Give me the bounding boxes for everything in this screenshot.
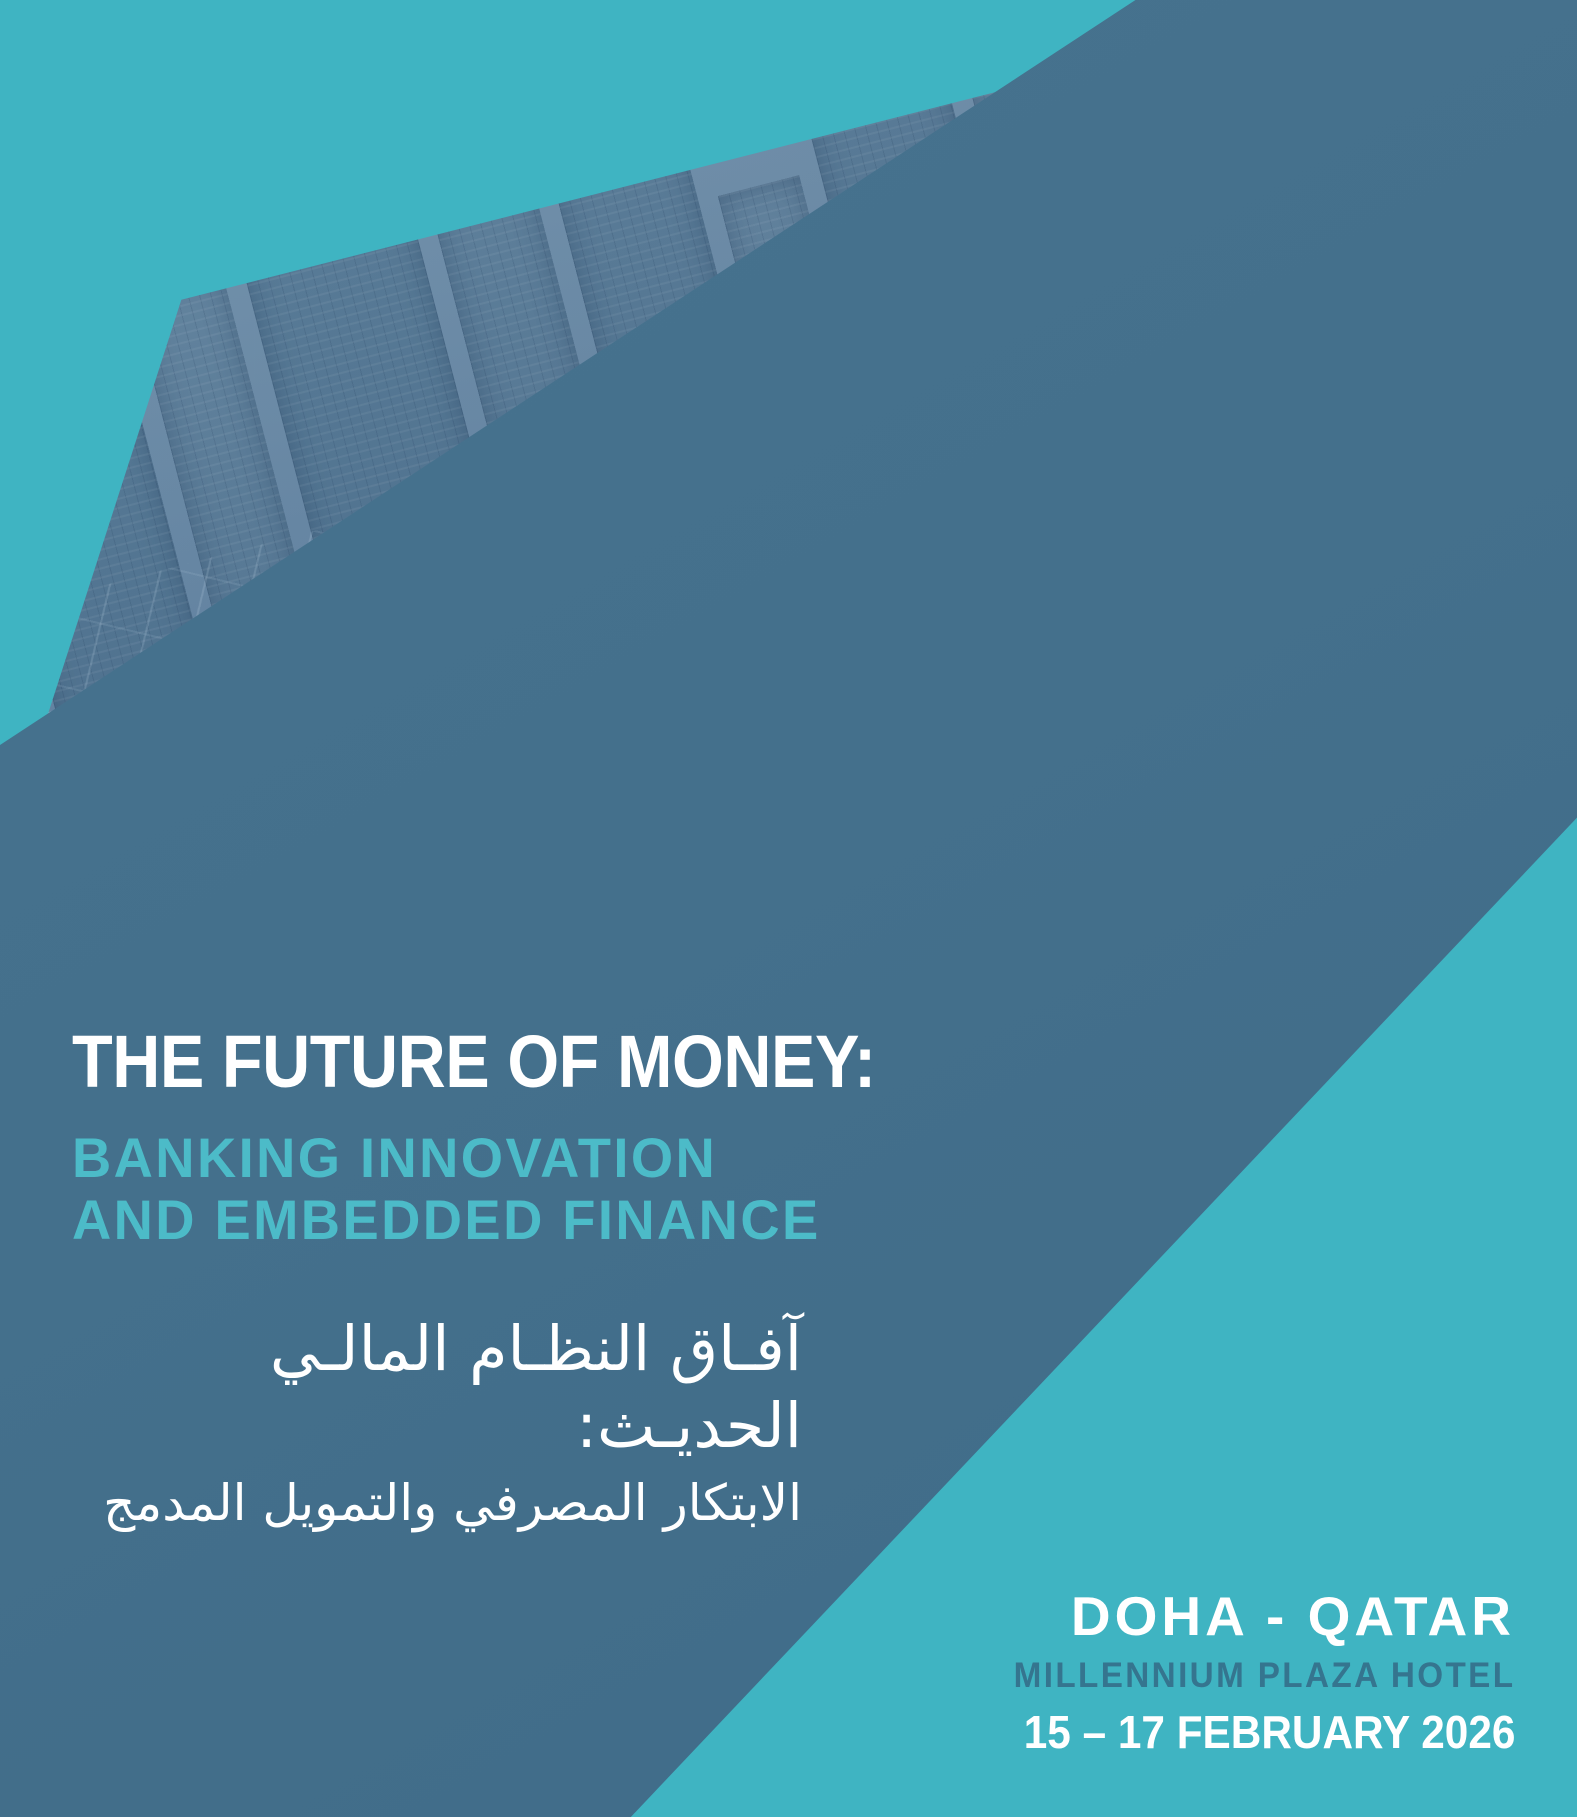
subtitle-line-1: BANKING INNOVATION xyxy=(72,1127,926,1190)
venue-block: DOHA - QATAR MILLENNIUM PLAZA HOTEL 15 –… xyxy=(981,1589,1515,1755)
title-block: THE FUTURE OF MONEY: BANKING INNOVATION … xyxy=(72,1026,952,1536)
event-dates: 15 – 17 FEBRUARY 2026 xyxy=(1023,1709,1515,1755)
subtitle-block: BANKING INNOVATION AND EMBEDDED FINANCE xyxy=(72,1127,926,1252)
arabic-title-line-1: آفـاق النظـام المالـي الحديـث: xyxy=(72,1310,802,1465)
arabic-title-block: آفـاق النظـام المالـي الحديـث: الابتكار … xyxy=(72,1310,802,1536)
venue-hotel: MILLENNIUM PLAZA HOTEL xyxy=(1007,1658,1515,1693)
venue-city: DOHA - QATAR xyxy=(981,1589,1515,1644)
poster-canvas: 82415 62529 42514 a6251 5.05 18.4 20.02 … xyxy=(0,0,1577,1817)
page-title: THE FUTURE OF MONEY: xyxy=(72,1026,864,1099)
arabic-title-line-2: الابتكار المصرفي والتمويل المدمج xyxy=(72,1471,802,1536)
subtitle-line-2: AND EMBEDDED FINANCE xyxy=(72,1189,926,1252)
